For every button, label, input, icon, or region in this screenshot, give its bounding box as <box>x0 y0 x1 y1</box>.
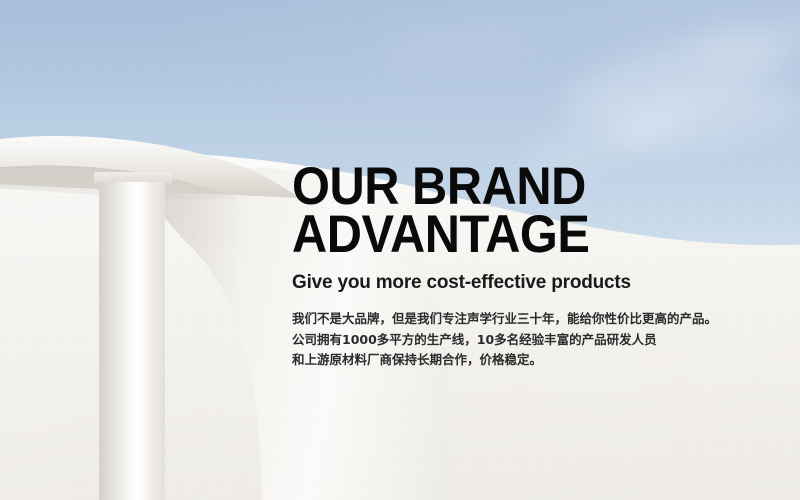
body-line-2: 公司拥有1000多平方的生产线，10多名经验丰富的产品研发人员 <box>292 330 772 351</box>
headline-line-2: ADVANTAGE <box>292 211 734 259</box>
column-shadow <box>99 182 133 500</box>
brand-advantage-banner: OUR BRAND ADVANTAGE Give you more cost-e… <box>0 0 800 500</box>
body-copy: 我们不是大品牌，但是我们专注声学行业三十年，能给你性价比更高的产品。 公司拥有1… <box>292 309 772 371</box>
headline-line-1: OUR BRAND <box>292 163 734 211</box>
column-highlight <box>134 182 150 500</box>
text-content-block: OUR BRAND ADVANTAGE Give you more cost-e… <box>292 163 772 371</box>
body-line-3: 和上游原材料厂商保持长期合作，价格稳定。 <box>292 350 772 371</box>
body-line-1: 我们不是大品牌，但是我们专注声学行业三十年，能给你性价比更高的产品。 <box>292 309 772 330</box>
subheadline: Give you more cost-effective products <box>292 272 772 294</box>
